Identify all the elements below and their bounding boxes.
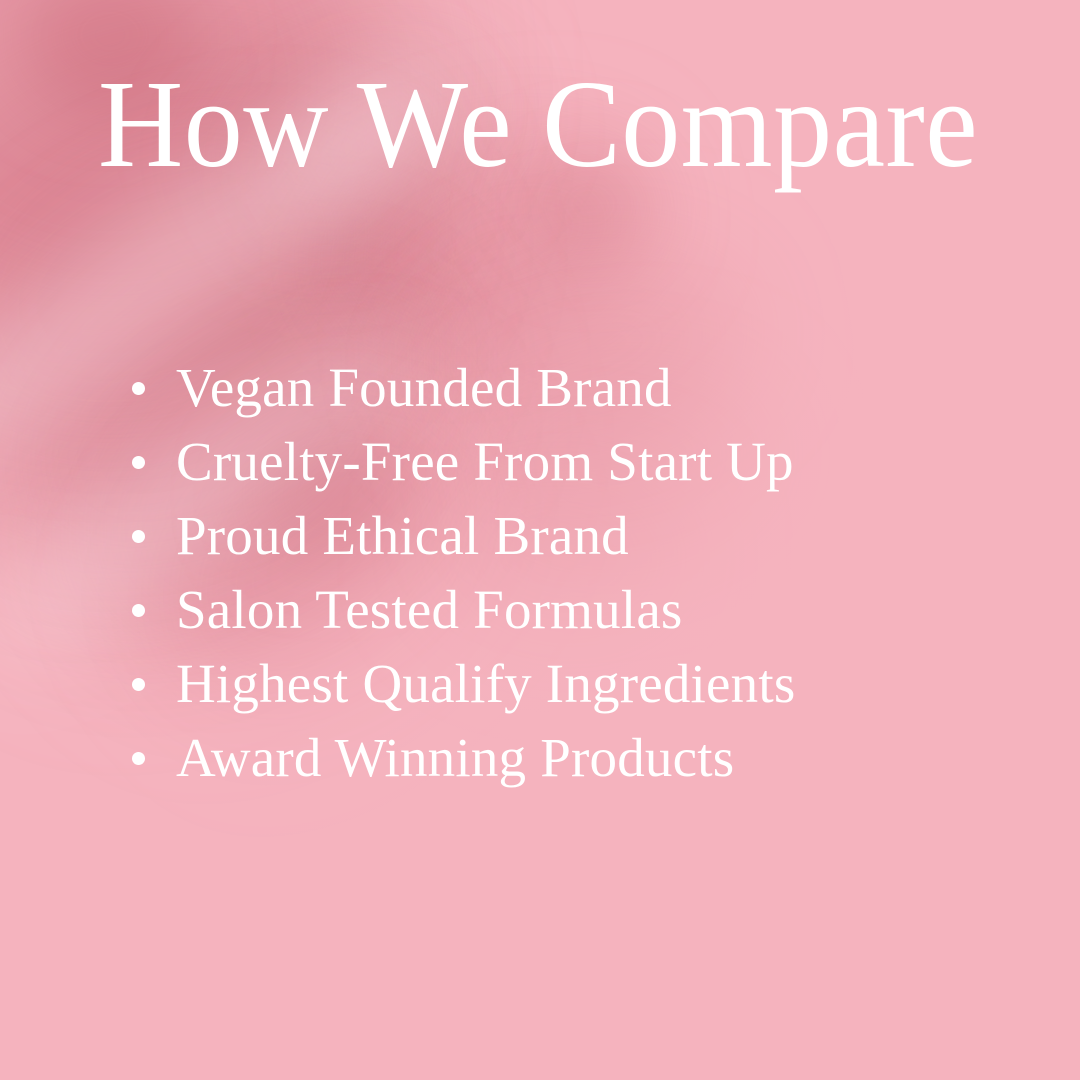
- bullet-dot-icon: [132, 456, 145, 469]
- list-item: Proud Ethical Brand: [132, 508, 992, 582]
- feature-label: Proud Ethical Brand: [176, 508, 629, 563]
- list-item: Salon Tested Formulas: [132, 582, 992, 656]
- list-item: Vegan Founded Brand: [132, 360, 992, 434]
- feature-label: Salon Tested Formulas: [176, 582, 683, 637]
- bullet-dot-icon: [132, 752, 145, 765]
- bullet-dot-icon: [132, 530, 145, 543]
- feature-label: Award Winning Products: [176, 730, 734, 785]
- social-post-canvas: How We Compare Vegan Founded Brand Cruel…: [0, 0, 1080, 1080]
- feature-label: Vegan Founded Brand: [176, 360, 672, 415]
- feature-label: Highest Qualify Ingredients: [176, 656, 795, 711]
- page-title: How We Compare: [98, 62, 978, 187]
- feature-list: Vegan Founded Brand Cruelty-Free From St…: [132, 360, 992, 804]
- list-item: Cruelty-Free From Start Up: [132, 434, 992, 508]
- post-content: How We Compare Vegan Founded Brand Cruel…: [0, 0, 1080, 1080]
- bullet-dot-icon: [132, 604, 145, 617]
- list-item: Highest Qualify Ingredients: [132, 656, 992, 730]
- list-item: Award Winning Products: [132, 730, 992, 804]
- feature-label: Cruelty-Free From Start Up: [176, 434, 794, 489]
- bullet-dot-icon: [132, 678, 145, 691]
- bullet-dot-icon: [132, 382, 145, 395]
